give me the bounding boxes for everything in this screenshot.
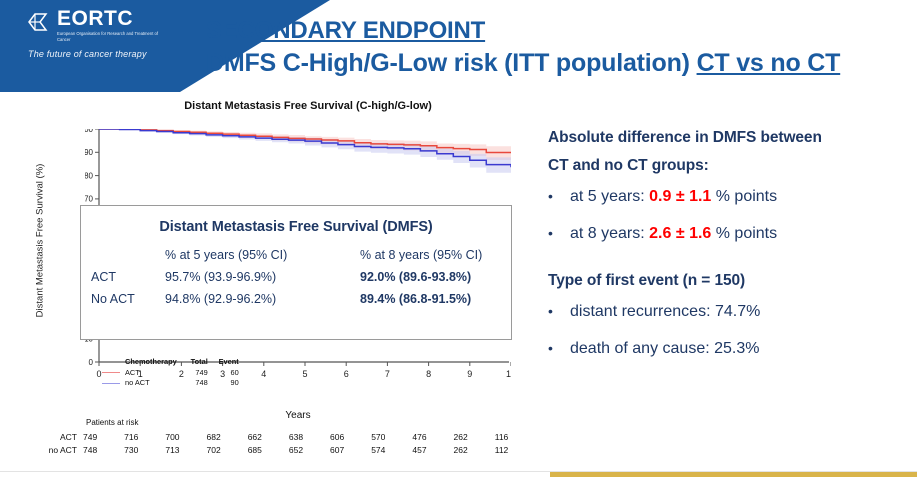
legend-swatch-header: [102, 357, 125, 368]
chart-legend-table: Chemotherapy Total Event ACT 749 60 no A…: [102, 357, 244, 389]
svg-text:10: 10: [506, 369, 511, 379]
chart-title: Distant Metastasis Free Survival (C-high…: [148, 100, 468, 112]
first-event-heading: Type of first event (n = 150): [548, 267, 908, 295]
dmfs-row-act-5y: 95.7% (93.9-96.9%): [165, 266, 360, 288]
dmfs-summary-heading: Distant Metastasis Free Survival (DMFS): [81, 219, 511, 235]
slide-title-block: SECONDARY ENDPOINT DMFS C-High/G-Low ris…: [206, 16, 840, 79]
dmfs-row-no-act-5y: 94.8% (92.9-96.2%): [165, 288, 360, 310]
patients-at-risk-cell: 682: [207, 430, 248, 443]
patients-at-risk-cell: 716: [124, 430, 165, 443]
patients-at-risk-block: Patients at risk ACT74971670068266263860…: [16, 418, 536, 456]
bullet-dot-icon: •: [548, 339, 570, 358]
eortc-logo-mark-icon: [26, 9, 52, 35]
dmfs-header-8y: % at 8 years (95% CI): [360, 244, 511, 266]
bullet-dot-icon: •: [548, 187, 570, 206]
bullet-prefix: at 8 years:: [570, 225, 649, 242]
bullet-highlight-value: 0.9 ± 1.1: [649, 188, 711, 205]
legend-event-no-act: 90: [213, 378, 244, 389]
absolute-difference-section: Absolute difference in DMFS between CT a…: [548, 124, 908, 245]
svg-text:8: 8: [426, 369, 431, 379]
first-event-bullet: •distant recurrences: 74.7%: [548, 302, 908, 323]
patients-at-risk-cell: 748: [83, 443, 124, 456]
patients-at-risk-cell: 607: [330, 443, 371, 456]
bullet-dot-icon: •: [548, 302, 570, 321]
svg-text:80: 80: [85, 171, 94, 180]
km-chart-panel: Distant Metastasis Free Survival (C-high…: [16, 95, 536, 470]
svg-text:0: 0: [89, 358, 94, 367]
svg-text:7: 7: [385, 369, 390, 379]
legend-total-no-act: 748: [182, 378, 213, 389]
absolute-difference-bullet-list: •at 5 years: 0.9 ± 1.1 % points•at 8 yea…: [548, 187, 908, 245]
bullet-prefix: death of any cause: 25.3%: [570, 340, 759, 357]
patients-at-risk-cell: 702: [207, 443, 248, 456]
bullet-suffix: % points: [711, 188, 777, 205]
dmfs-header-5y: % at 5 years (95% CI): [165, 244, 360, 266]
patients-at-risk-cell: 112: [495, 443, 536, 456]
legend-total-act: 749: [182, 368, 213, 379]
dmfs-row-act-8y: 92.0% (89.6-93.8%): [360, 266, 511, 288]
svg-text:4: 4: [261, 369, 266, 379]
svg-text:6: 6: [344, 369, 349, 379]
bullet-prefix: distant recurrences: 74.7%: [570, 303, 760, 320]
patients-at-risk-cell: 116: [495, 430, 536, 443]
patients-at-risk-cell: 749: [83, 430, 124, 443]
patients-at-risk-cell: 713: [165, 443, 206, 456]
legend-header-event: Event: [213, 357, 244, 368]
slide-title-secondary: DMFS C-High/G-Low risk (ITT population) …: [206, 47, 840, 79]
dmfs-row-no-act: No ACT 94.8% (92.9-96.2%) 89.4% (86.8-91…: [81, 288, 511, 310]
legend-header-total: Total: [182, 357, 213, 368]
bullet-text: at 8 years: 2.6 ± 1.6 % points: [570, 224, 908, 245]
patients-at-risk-row-label: no ACT: [16, 443, 83, 456]
patients-at-risk-row: no ACT748730713702685652607574457262112: [16, 443, 536, 456]
eortc-logo: EORTC European Organisation for Research…: [26, 8, 176, 59]
svg-text:9: 9: [467, 369, 472, 379]
bullet-suffix: % points: [711, 225, 777, 242]
patients-at-risk-cell: 476: [412, 430, 453, 443]
eortc-logo-tagline: The future of cancer therapy: [28, 49, 176, 59]
bullet-prefix: at 5 years:: [570, 188, 649, 205]
footer-accent-bar: [0, 472, 917, 477]
patients-at-risk-table: ACT749716700682662638606570476262116no A…: [16, 430, 536, 456]
absolute-difference-bullet: •at 8 years: 2.6 ± 1.6 % points: [548, 224, 908, 245]
first-event-bullet: •death of any cause: 25.3%: [548, 339, 908, 360]
patients-at-risk-cell: 685: [248, 443, 289, 456]
patients-at-risk-cell: 606: [330, 430, 371, 443]
absolute-difference-heading-line-2: CT and no CT groups:: [548, 152, 908, 180]
first-event-section: Type of first event (n = 150) •distant r…: [548, 267, 908, 360]
bullet-highlight-value: 2.6 ± 1.6: [649, 225, 711, 242]
svg-text:5: 5: [302, 369, 307, 379]
dmfs-row-no-act-label: No ACT: [81, 288, 165, 310]
slide-title-primary: SECONDARY ENDPOINT: [206, 16, 840, 47]
bullet-text: death of any cause: 25.3%: [570, 339, 908, 360]
patients-at-risk-cell: 570: [371, 430, 412, 443]
eortc-logo-subtitle: European Organisation for Research and T…: [57, 31, 167, 42]
patients-at-risk-cell: 262: [454, 430, 495, 443]
dmfs-summary-box: Distant Metastasis Free Survival (DMFS) …: [80, 205, 512, 340]
legend-swatch-no-act: [102, 378, 125, 389]
bullet-text: distant recurrences: 74.7%: [570, 302, 908, 323]
dmfs-row-act-label: ACT: [81, 266, 165, 288]
legend-row-no-act: no ACT 748 90: [102, 378, 244, 389]
legend-label-act: ACT: [125, 368, 182, 379]
patients-at-risk-cell: 262: [454, 443, 495, 456]
patients-at-risk-cell: 638: [289, 430, 330, 443]
dmfs-row-act: ACT 95.7% (93.9-96.9%) 92.0% (89.6-93.8%…: [81, 266, 511, 288]
first-event-bullet-list: •distant recurrences: 74.7%•death of any…: [548, 302, 908, 360]
legend-swatch-act: [102, 368, 125, 379]
patients-at-risk-cell: 574: [371, 443, 412, 456]
bullet-text: at 5 years: 0.9 ± 1.1 % points: [570, 187, 908, 208]
slide-subtitle-plain: DMFS C-High/G-Low risk (ITT population): [206, 49, 697, 77]
absolute-difference-bullet: •at 5 years: 0.9 ± 1.1 % points: [548, 187, 908, 208]
chart-y-axis-label: Distant Metastasis Free Survival (%): [35, 131, 46, 351]
legend-row-act: ACT 749 60: [102, 368, 244, 379]
svg-text:0: 0: [96, 369, 101, 379]
right-text-panel: Absolute difference in DMFS between CT a…: [548, 124, 908, 376]
patients-at-risk-row: ACT749716700682662638606570476262116: [16, 430, 536, 443]
legend-header-chemotherapy: Chemotherapy: [125, 357, 182, 368]
chart-legend: Chemotherapy Total Event ACT 749 60 no A…: [102, 357, 244, 389]
chart-legend-header-row: Chemotherapy Total Event: [102, 357, 244, 368]
dmfs-header-blank: [81, 244, 165, 266]
dmfs-summary-table: % at 5 years (95% CI) % at 8 years (95% …: [81, 244, 511, 310]
legend-event-act: 60: [213, 368, 244, 379]
patients-at-risk-cell: 662: [248, 430, 289, 443]
patients-at-risk-cell: 652: [289, 443, 330, 456]
eortc-logo-wordmark: EORTC: [57, 8, 167, 29]
patients-at-risk-row-label: ACT: [16, 430, 83, 443]
dmfs-header-row: % at 5 years (95% CI) % at 8 years (95% …: [81, 244, 511, 266]
patients-at-risk-cell: 700: [165, 430, 206, 443]
svg-text:90: 90: [85, 148, 94, 157]
legend-label-no-act: no ACT: [125, 378, 182, 389]
patients-at-risk-title: Patients at risk: [86, 418, 536, 427]
svg-text:100: 100: [85, 129, 94, 134]
dmfs-row-no-act-8y: 89.4% (86.8-91.5%): [360, 288, 511, 310]
patients-at-risk-cell: 457: [412, 443, 453, 456]
patients-at-risk-cell: 730: [124, 443, 165, 456]
slide-subtitle-underlined: CT vs no CT: [697, 49, 841, 77]
svg-text:70: 70: [85, 195, 94, 204]
bullet-dot-icon: •: [548, 224, 570, 243]
absolute-difference-heading-line-1: Absolute difference in DMFS between: [548, 124, 908, 152]
